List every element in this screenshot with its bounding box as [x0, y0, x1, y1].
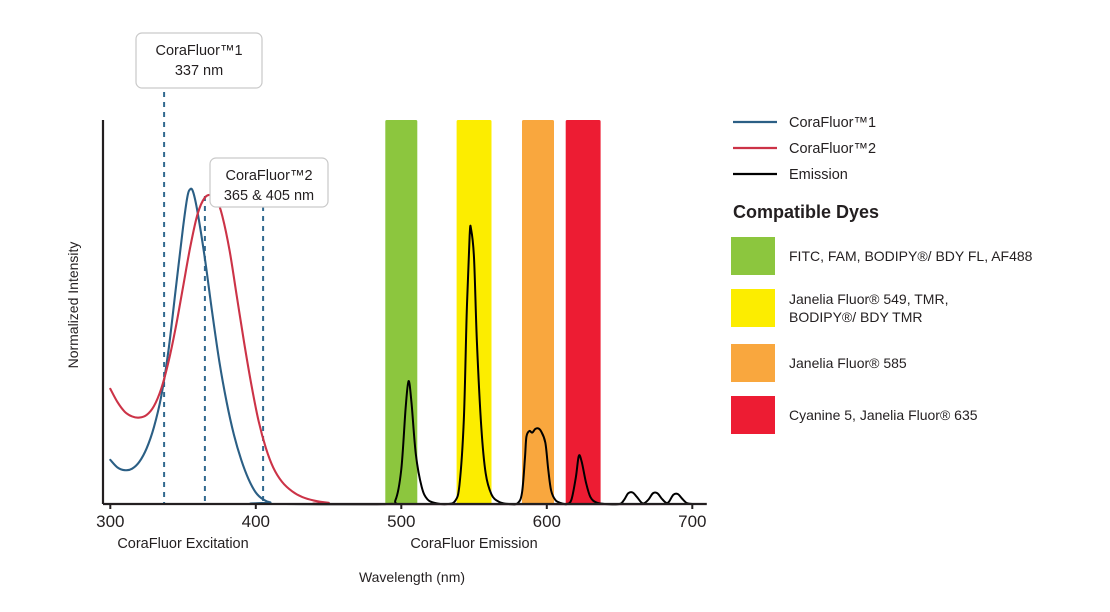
dye-swatch-2 [731, 344, 775, 382]
region-label-corafluor-excitation: CoraFluor Excitation [117, 536, 248, 552]
legend-label-2: Emission [789, 167, 848, 183]
dye-label-1-line1: BODIPY®/ BDY TMR [789, 309, 923, 325]
x-tick-label-500: 500 [387, 512, 415, 531]
x-tick-label-300: 300 [96, 512, 124, 531]
dye-swatch-1 [731, 289, 775, 327]
legend-item-1: CoraFluor™2 [733, 141, 876, 157]
spectra-chart: 300400500600700 CoraFluor ExcitationCora… [0, 0, 1110, 612]
plot-guides [164, 92, 263, 504]
dye-label-3-line0: Cyanine 5, Janelia Fluor® 635 [789, 407, 978, 423]
corafluor1-callout-line2: 337 nm [175, 63, 223, 79]
legend-label-0: CoraFluor™1 [789, 115, 876, 131]
axis-tick-labels: 300400500600700 [96, 504, 706, 531]
x-tick-label-700: 700 [678, 512, 706, 531]
green-band [385, 120, 417, 504]
legend-item-2: Emission [733, 167, 848, 183]
dye-label-2-line0: Janelia Fluor® 585 [789, 355, 907, 371]
dye-item-3: Cyanine 5, Janelia Fluor® 635 [731, 396, 978, 434]
legend: CoraFluor™1CoraFluor™2Emission [733, 115, 876, 183]
x-tick-label-600: 600 [533, 512, 561, 531]
y-axis-title: Normalized Intensity [65, 242, 81, 369]
corafluor2-callout-line1: CoraFluor™2 [225, 168, 312, 184]
legend-label-1: CoraFluor™2 [789, 141, 876, 157]
corafluor2-callout-line2: 365 & 405 nm [224, 188, 314, 204]
x-axis-title: Wavelength (nm) [359, 569, 465, 585]
red-band [566, 120, 601, 504]
dye-swatch-0 [731, 237, 775, 275]
orange-band [522, 120, 554, 504]
compatible-dyes-heading: Compatible Dyes [733, 202, 879, 222]
dye-item-2: Janelia Fluor® 585 [731, 344, 907, 382]
dye-item-0: FITC, FAM, BODIPY®/ BDY FL, AF488 [731, 237, 1033, 275]
dye-label-1-line0: Janelia Fluor® 549, TMR, [789, 291, 948, 307]
corafluor1-callout-line1: CoraFluor™1 [155, 43, 242, 59]
dye-item-1: Janelia Fluor® 549, TMR,BODIPY®/ BDY TMR [731, 289, 948, 327]
legend-item-0: CoraFluor™1 [733, 115, 876, 131]
dye-label-0-line0: FITC, FAM, BODIPY®/ BDY FL, AF488 [789, 248, 1033, 264]
dye-swatch-3 [731, 396, 775, 434]
corafluor2-callout: CoraFluor™2365 & 405 nm [210, 158, 328, 207]
callout-annotations: CoraFluor™1337 nmCoraFluor™2365 & 405 nm [136, 33, 328, 207]
corafluor1-callout: CoraFluor™1337 nm [136, 33, 262, 88]
plot-bands [385, 120, 600, 504]
x-tick-label-400: 400 [242, 512, 270, 531]
corafluor1-callout-box [136, 33, 262, 88]
compatible-dyes-legend: Compatible DyesFITC, FAM, BODIPY®/ BDY F… [731, 202, 1033, 434]
region-label-corafluor-emission: CoraFluor Emission [410, 536, 537, 552]
region-labels: CoraFluor ExcitationCoraFluor Emission [117, 536, 537, 552]
